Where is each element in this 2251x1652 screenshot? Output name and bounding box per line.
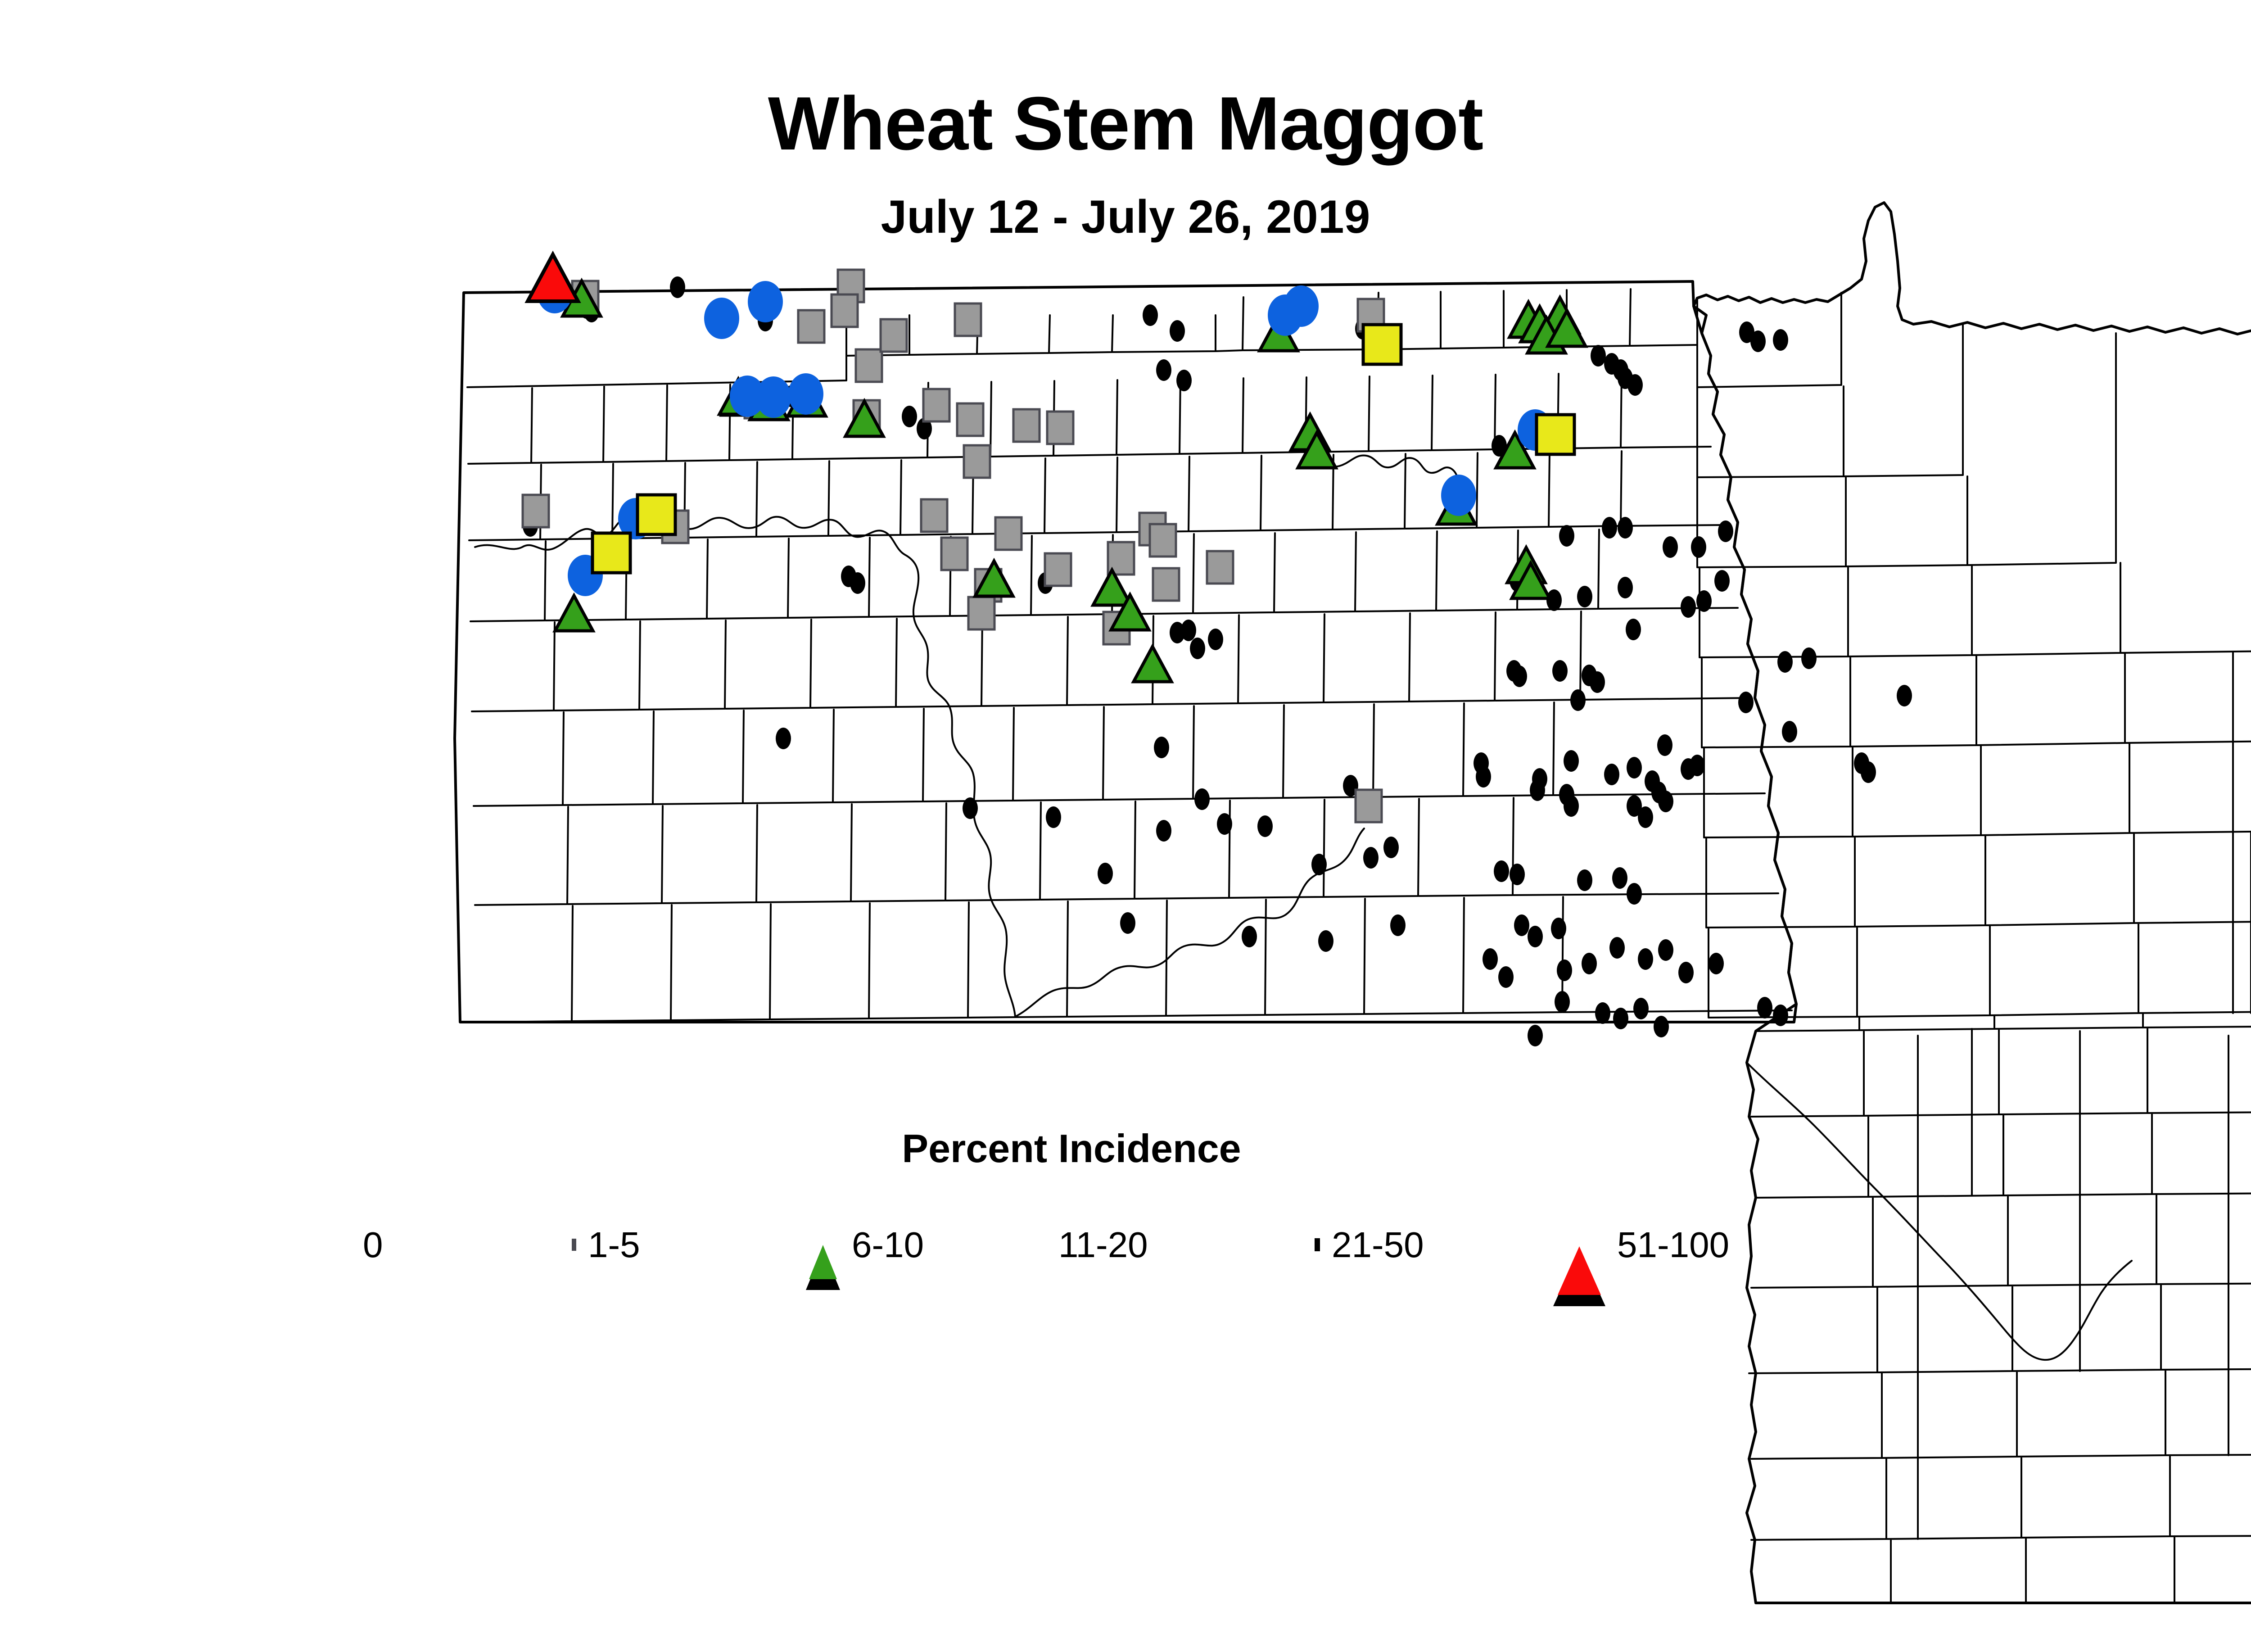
map-marker-1-5 — [523, 495, 549, 527]
map-marker-0 — [1514, 914, 1529, 936]
map-marker-0 — [1546, 589, 1562, 611]
map-marker-11-20 — [788, 373, 823, 415]
map-marker-21-50 — [592, 533, 630, 573]
map-marker-0 — [850, 572, 865, 594]
map-marker-0 — [1551, 918, 1566, 939]
map-marker-0 — [1627, 883, 1642, 905]
map-marker-0 — [1528, 926, 1543, 947]
map-marker-0 — [1782, 721, 1797, 742]
map-marker-1-5 — [1150, 524, 1176, 557]
map-marker-0 — [1595, 1002, 1610, 1024]
map-marker-0 — [1156, 359, 1171, 381]
map-marker-0 — [1577, 586, 1592, 607]
marker-layer — [523, 254, 1912, 1046]
map-marker-0 — [1618, 577, 1633, 598]
map-marker-1-5 — [923, 389, 949, 421]
map-marker-0 — [1143, 304, 1158, 326]
map-marker-1-5 — [1047, 412, 1073, 444]
map-marker-0 — [1564, 795, 1579, 817]
map-marker-0 — [1557, 960, 1572, 981]
map-marker-1-5 — [1356, 790, 1382, 822]
map-marker-0 — [1591, 345, 1606, 367]
map-marker-0 — [1257, 815, 1273, 837]
map-marker-1-5 — [995, 517, 1022, 550]
map-marker-0 — [776, 728, 791, 749]
legend-label-11-20: 11-20 — [1058, 1227, 1148, 1263]
map-marker-0 — [1156, 820, 1171, 842]
map-marker-0 — [1861, 761, 1876, 783]
map-marker-1-5 — [968, 597, 994, 629]
map-marker-0 — [1678, 962, 1694, 983]
legend-item-51-100[interactable]: 51-100 — [1553, 1211, 1729, 1279]
map-marker-21-50 — [637, 495, 675, 534]
map-marker-0 — [1777, 651, 1793, 673]
map-marker-0 — [1530, 779, 1545, 801]
map-marker-0 — [1483, 948, 1498, 970]
map-marker-0 — [1154, 737, 1169, 758]
map-marker-0 — [1570, 689, 1586, 711]
map-marker-0 — [1627, 757, 1642, 778]
legend-item-11-20[interactable]: 11-20 — [1047, 1211, 1148, 1279]
map-marker-0 — [670, 276, 685, 298]
map-marker-0 — [1512, 665, 1527, 687]
map-marker-0 — [1613, 1008, 1628, 1029]
legend-label-1-5: 1-5 — [588, 1227, 640, 1263]
nd-state-outline — [455, 281, 1796, 1022]
map-marker-0 — [1609, 937, 1625, 959]
map-marker-1-5 — [1153, 568, 1179, 601]
map-marker-0 — [1383, 837, 1399, 858]
map-marker-51-100 — [528, 254, 578, 301]
map-marker-11-20 — [756, 376, 791, 418]
map-marker-0 — [1738, 692, 1754, 713]
map-marker-0 — [963, 797, 978, 819]
map-marker-0 — [1555, 991, 1570, 1013]
minnesota-river — [1747, 1063, 2132, 1360]
map-marker-1-5 — [1207, 551, 1233, 584]
map-marker-0 — [1552, 660, 1568, 682]
map-marker-0 — [1696, 590, 1712, 612]
map-marker-0 — [1190, 638, 1205, 659]
legend: Percent Incidence 0 1-5 6-10 11-20 21-50 — [351, 1126, 1792, 1279]
map-marker-0 — [1208, 629, 1223, 650]
legend-item-1-5[interactable]: 1-5 — [572, 1211, 640, 1279]
map-marker-0 — [1046, 806, 1061, 828]
map-marker-0 — [1612, 867, 1627, 889]
map-marker-0 — [1714, 570, 1730, 592]
map-marker-0 — [1176, 370, 1192, 391]
map-marker-0 — [1559, 525, 1574, 547]
map-marker-1-5 — [921, 499, 947, 532]
map-marker-0 — [902, 406, 917, 427]
map-marker-0 — [1773, 329, 1788, 351]
map-marker-0 — [1709, 953, 1724, 974]
legend-label-0: 0 — [363, 1227, 383, 1263]
map-marker-0 — [1757, 997, 1772, 1018]
map-marker-11-20 — [1441, 475, 1476, 516]
map-marker-0 — [1658, 791, 1673, 812]
map-marker-6-10 — [1134, 647, 1171, 682]
map-marker-21-50 — [1537, 415, 1574, 454]
green-triangle-icon — [806, 1241, 840, 1249]
map-marker-0 — [1494, 860, 1509, 882]
map-marker-0 — [1217, 813, 1232, 835]
mn-county-vertical-lines — [1918, 653, 2251, 1539]
map-marker-0 — [1363, 847, 1379, 869]
map-marker-1-5 — [881, 319, 907, 352]
map-marker-0 — [1681, 596, 1696, 618]
map-marker-0 — [1194, 788, 1210, 810]
map-marker-0 — [1654, 1016, 1669, 1037]
map-marker-0 — [1638, 948, 1653, 970]
map-marker-0 — [1626, 619, 1641, 640]
legend-item-0[interactable]: 0 — [351, 1211, 383, 1279]
map-marker-21-50 — [1363, 325, 1401, 364]
legend-label-51-100: 51-100 — [1617, 1227, 1729, 1263]
missouri-river — [475, 517, 1015, 1017]
map-marker-0 — [1718, 520, 1733, 542]
map-marker-0 — [1658, 939, 1673, 961]
map-marker-0 — [1663, 536, 1678, 558]
map-marker-1-5 — [957, 403, 983, 436]
map-marker-0 — [1564, 750, 1579, 772]
map-marker-0 — [1801, 647, 1817, 669]
map-marker-0 — [1170, 320, 1185, 342]
gray-square-icon — [572, 1241, 576, 1249]
map-marker-11-20 — [704, 298, 739, 339]
map-marker-0 — [1627, 374, 1643, 396]
map-marker-0 — [1690, 755, 1705, 776]
map-marker-0 — [1602, 517, 1617, 539]
map-marker-0 — [1170, 622, 1185, 643]
map-marker-0 — [1390, 914, 1406, 936]
map-marker-0 — [1311, 854, 1327, 875]
map-marker-1-5 — [856, 349, 882, 382]
map-marker-0 — [1577, 869, 1592, 891]
map-marker-0 — [1098, 863, 1113, 884]
map-marker-11-20 — [748, 281, 783, 322]
map-marker-1-5 — [941, 538, 967, 570]
legend-items: 0 1-5 6-10 11-20 21-50 51-100 — [351, 1211, 1792, 1279]
map-marker-0 — [1750, 330, 1766, 352]
map-marker-0 — [1773, 1005, 1788, 1026]
legend-label-21-50: 21-50 — [1332, 1227, 1424, 1263]
map-marker-1-5 — [798, 310, 824, 343]
map-marker-0 — [1633, 998, 1649, 1019]
map-marker-0 — [1318, 930, 1333, 952]
legend-label-6-10: 6-10 — [852, 1227, 924, 1263]
map-marker-1-5 — [955, 303, 981, 336]
map-marker-1-5 — [832, 294, 858, 327]
map-marker-0 — [1120, 912, 1135, 934]
map-canvas — [0, 0, 2251, 1652]
map-marker-0 — [1590, 671, 1605, 693]
map-marker-0 — [1691, 536, 1706, 558]
legend-item-6-10[interactable]: 6-10 — [806, 1211, 924, 1279]
map-marker-0 — [1242, 926, 1257, 947]
map-marker-0 — [1510, 864, 1525, 885]
nd-county-lines — [467, 289, 1792, 1022]
map-marker-0 — [1604, 764, 1619, 785]
map-figure: Wheat Stem Maggot July 12 - July 26, 201… — [0, 0, 2251, 1652]
map-marker-0 — [1528, 1025, 1543, 1046]
legend-item-21-50[interactable]: 21-50 — [1315, 1211, 1424, 1279]
map-marker-0 — [1476, 766, 1491, 788]
map-marker-11-20 — [1284, 285, 1319, 327]
mn-county-lines-south — [1749, 1013, 2251, 1603]
map-marker-1-5 — [964, 445, 990, 478]
map-marker-6-10 — [555, 596, 593, 631]
map-marker-0 — [1657, 734, 1672, 756]
map-marker-1-5 — [1013, 409, 1040, 442]
legend-title: Percent Incidence — [351, 1126, 1792, 1172]
mn-state-outline — [1694, 203, 2251, 1603]
yellow-square-icon — [1315, 1241, 1320, 1249]
map-marker-1-5 — [1045, 553, 1071, 586]
map-marker-0 — [1582, 953, 1597, 974]
map-marker-0 — [1638, 806, 1653, 828]
red-triangle-icon — [1553, 1241, 1605, 1249]
map-marker-0 — [1498, 966, 1514, 988]
map-marker-0 — [1618, 517, 1633, 539]
map-marker-0 — [1897, 685, 1912, 706]
